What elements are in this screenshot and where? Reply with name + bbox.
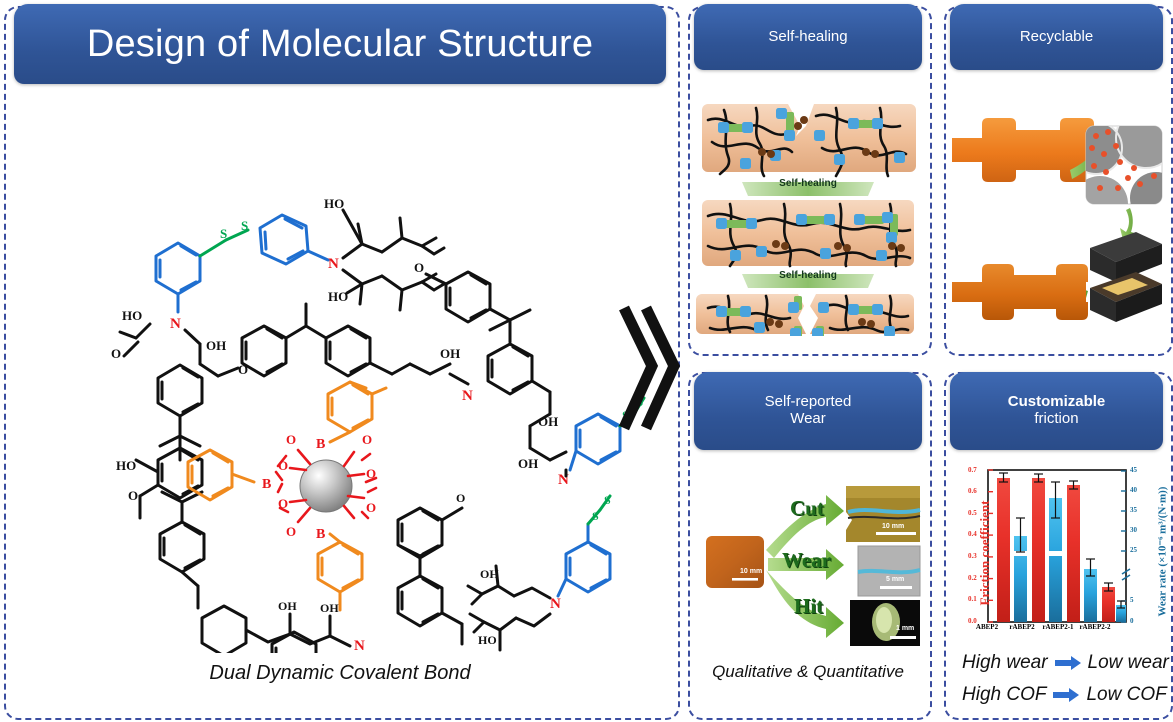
oxygen-label: O <box>414 260 424 275</box>
hydroxyl-label: OH <box>518 456 538 471</box>
oxygen-label: O <box>362 432 372 447</box>
alkyl-chain-topright <box>343 218 444 310</box>
title-line-1: Self-reported <box>765 393 852 410</box>
y2tick-5: 5 <box>1130 596 1134 604</box>
slab-split <box>696 294 914 336</box>
nitrogen-label: N <box>170 316 181 332</box>
boronate-cluster: O O O O O O O B B B <box>262 432 376 542</box>
boron-label: B <box>316 437 325 452</box>
self-reported-wear-header: Self-reported Wear <box>694 372 922 450</box>
hydroxyl-label: HO <box>324 196 344 211</box>
y2tick-40: 40 <box>1130 486 1137 494</box>
self-reported-wear-title: Self-reported Wear <box>765 394 852 428</box>
design-panel-header: Design of Molecular Structure <box>14 4 666 84</box>
scale-label-wear: 5 mm <box>886 576 904 583</box>
sulfur-label: S <box>592 509 599 523</box>
hydroxyl-label: OH <box>440 346 460 361</box>
summary-wear-to: Low wear <box>1088 652 1169 674</box>
y2tick-45: 45 <box>1130 466 1137 474</box>
summary-wear-from: High wear <box>962 652 1048 674</box>
customizable-friction-header: Customizable friction <box>950 372 1163 450</box>
self-healing-title: Self-healing <box>768 29 847 46</box>
nitrogen-label: N <box>354 638 365 653</box>
oxygen-label: O <box>278 496 288 511</box>
scale-label-hit: 1 mm <box>896 625 914 632</box>
molecular-structure-diagram: S S N HO HO N HO <box>10 88 670 653</box>
aryl-ring-blue-1 <box>156 243 200 294</box>
dumbbell-specimen-recycled <box>952 264 1088 320</box>
wear-micrograph <box>858 546 920 596</box>
bisphenol-backbone-left-2 <box>160 492 246 653</box>
oxygen-label: O <box>286 432 296 447</box>
cof-bar <box>997 478 1010 622</box>
ytick-2: 0.2 <box>968 574 977 582</box>
hydroxyl-label: HO <box>122 308 142 323</box>
self-reported-wear-caption: Qualitative & Quantitative <box>688 662 928 682</box>
cut-label: Cut <box>790 496 824 521</box>
hot-press-mold <box>1090 232 1162 322</box>
healing-arrow-label-2: Self-healing <box>694 270 922 281</box>
right-arrow-icon <box>1055 656 1081 670</box>
aryl-ring-blue-lowerright <box>566 524 610 592</box>
hydroxyl-label: OH <box>480 567 499 581</box>
summary-cof-to: Low COF <box>1086 684 1166 706</box>
customizable-friction-title: Customizable friction <box>1008 394 1106 428</box>
nitrogen-label: N <box>462 388 473 404</box>
design-panel-caption: Dual Dynamic Covalent Bond <box>4 662 676 685</box>
recyclable-title: Recyclable <box>1020 29 1093 46</box>
y2tick-35: 35 <box>1130 506 1137 514</box>
boron-label: B <box>316 527 325 542</box>
oxygen-label: O <box>366 500 376 515</box>
double-chevron-icon <box>612 300 682 440</box>
oxygen-label: O <box>128 488 138 503</box>
hit-label: Hit <box>794 594 823 619</box>
oxygen-label: O <box>456 491 465 505</box>
sulfur-label: S <box>220 226 227 241</box>
title-line-2: friction <box>1034 410 1078 427</box>
recyclable-header: Recyclable <box>950 4 1163 70</box>
hydroxyl-label: HO <box>328 289 348 304</box>
y2tick-0: 0 <box>1130 617 1134 625</box>
alkyl-chain-lowerleft <box>246 614 350 646</box>
summary-line-cof: High COF Low COF <box>962 684 1167 706</box>
nitrogen-label: N <box>328 256 339 272</box>
hydroxyl-label: OH <box>278 599 297 613</box>
aryl-ring-orange-bottom <box>318 534 362 610</box>
scale-label-cut: 10 mm <box>882 523 904 530</box>
title-line-1: Customizable <box>1008 393 1106 410</box>
y-axis-label: Friction coefficient <box>977 473 993 633</box>
y2tick-30: 30 <box>1130 526 1137 534</box>
recyclable-diagram <box>950 92 1163 340</box>
page-title: Design of Molecular Structure <box>87 23 593 66</box>
original-sample-photo <box>706 536 764 588</box>
boron-label: B <box>262 477 271 492</box>
y2-axis-label: Wear rate (×10⁻⁶ m³/(N·m)) <box>1156 462 1169 642</box>
bisphenol-backbone-mid <box>242 304 450 376</box>
wear-bar-break <box>1049 551 1062 556</box>
summary-line-wear: High wear Low wear <box>962 652 1169 674</box>
right-arrow-icon <box>1053 688 1079 702</box>
slab-healed <box>702 200 914 266</box>
ytick-7: 0.7 <box>968 466 977 474</box>
cof-bar <box>1032 478 1045 622</box>
nitrogen-label: N <box>550 596 561 612</box>
wear-label: Wear <box>782 548 831 573</box>
aryl-ring-blue-2 <box>260 215 308 264</box>
hit-micrograph <box>850 600 920 646</box>
cof-bar <box>1067 485 1080 622</box>
xtick-rabep2-2: rABEP2-2 <box>1068 623 1122 631</box>
ytick-3: 0.3 <box>968 552 977 560</box>
y2tick-25: 25 <box>1130 546 1137 554</box>
oxygen-label: O <box>366 466 376 481</box>
ytick-1: 0.1 <box>968 595 977 603</box>
sulfur-label: S <box>604 493 611 507</box>
bisphenol-backbone-bottom <box>398 508 462 644</box>
aryl-ring-orange-left <box>188 450 254 500</box>
ytick-4: 0.4 <box>968 530 977 538</box>
oxygen-label: O <box>286 524 296 539</box>
oxygen-label: O <box>278 458 288 473</box>
ytick-6: 0.6 <box>968 487 977 495</box>
cof-bar <box>1102 587 1115 622</box>
hydroxyl-label: OH <box>538 414 558 429</box>
oxygen-label: O <box>111 346 121 361</box>
self-healing-diagram <box>694 96 922 336</box>
title-line-2: Wear <box>790 410 826 427</box>
sulfur-label: S <box>241 218 248 233</box>
healing-arrow-label-1: Self-healing <box>694 178 922 189</box>
hydroxyl-label: HO <box>116 458 136 473</box>
scale-label-sample: 10 mm <box>740 568 762 575</box>
hydroxyl-label: HO <box>478 633 497 647</box>
slab-cracked-top <box>702 104 916 176</box>
self-healing-header: Self-healing <box>694 4 922 70</box>
hydroxyl-label: OH <box>206 338 226 353</box>
cut-micrograph <box>846 486 920 542</box>
ytick-5: 0.5 <box>968 509 977 517</box>
summary-cof-from: High COF <box>962 684 1046 706</box>
hydroxyl-label: OH <box>320 601 339 615</box>
wear-bar <box>1084 569 1097 622</box>
